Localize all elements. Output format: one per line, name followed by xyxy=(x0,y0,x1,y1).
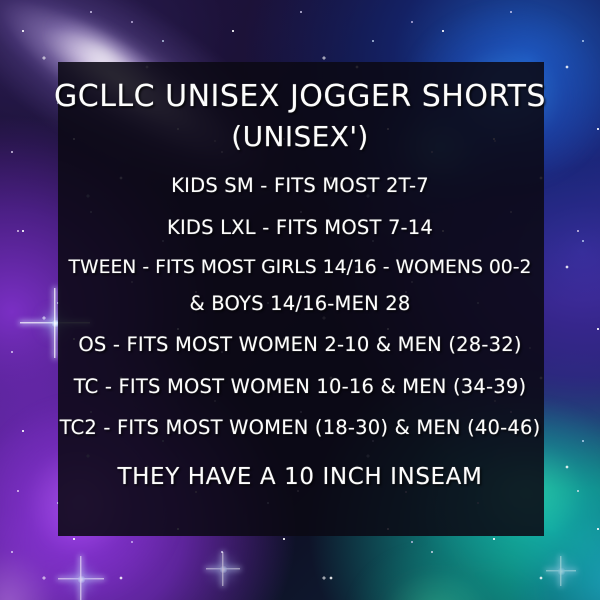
sizing-line-kids-lxl: KIDS LXL - FITS MOST 7-14 xyxy=(0,218,600,238)
sizing-line-tc2: TC2 - FITS MOST WOMEN (18-30) & MEN (40-… xyxy=(0,418,600,438)
sizing-line-tween: TWEEN - FITS MOST GIRLS 14/16 - WOMENS 0… xyxy=(0,259,600,278)
sizing-line-tc: TC - FITS MOST WOMEN 10-16 & MEN (34-39) xyxy=(0,377,600,397)
poster-text-content: GCLLC UNISEX JOGGER SHORTS (UNISEX') KID… xyxy=(0,0,600,600)
sizing-line-tween-boys: & BOYS 14/16-MEN 28 xyxy=(0,294,600,314)
sizing-chart-poster: GCLLC UNISEX JOGGER SHORTS (UNISEX') KID… xyxy=(0,0,600,600)
inseam-note: THEY HAVE A 10 INCH INSEAM xyxy=(0,466,600,489)
sizing-line-os: OS - FITS MOST WOMEN 2-10 & MEN (28-32) xyxy=(0,335,600,355)
poster-subtitle: (UNISEX') xyxy=(0,123,600,151)
sizing-line-kids-sm: KIDS SM - FITS MOST 2T-7 xyxy=(0,176,600,196)
poster-title: GCLLC UNISEX JOGGER SHORTS xyxy=(0,82,600,112)
